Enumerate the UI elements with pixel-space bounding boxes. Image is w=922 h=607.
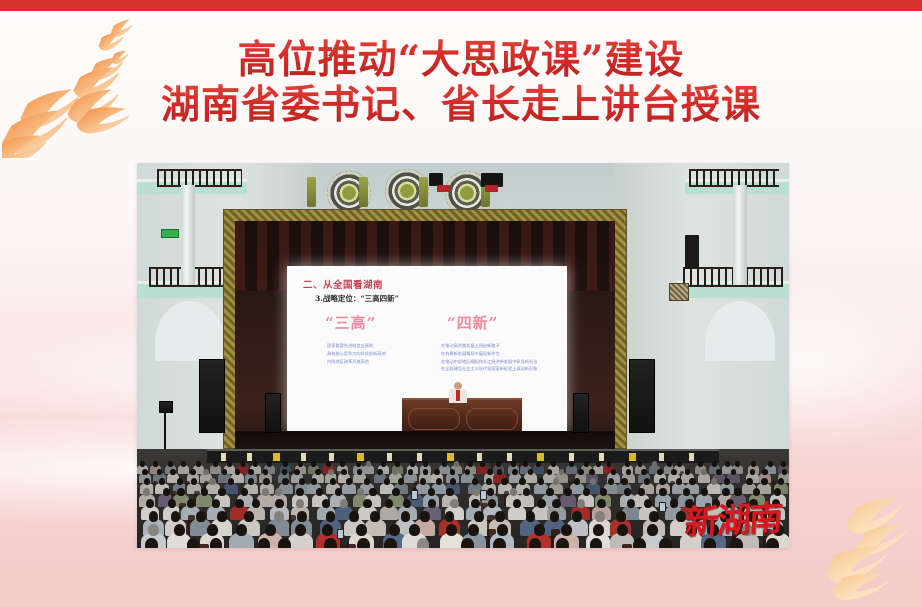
audience-member-head [174,524,185,536]
news-photo: 二、从全国看湖南 3.战略定位：“三高四新” “三高” “四新” 国家重要先进制… [137,163,789,548]
audience-member-head [296,488,303,496]
audience-member-head [724,478,730,485]
audience-member-head [384,538,397,548]
audience-member-head [227,461,232,467]
audience-member-head [392,488,399,496]
audience-member-head [671,469,677,475]
rail-marker [629,453,636,461]
audience-member-head [177,488,184,496]
audience-member-head [590,478,596,485]
audience-member-head [659,538,672,548]
audience-member-head [652,461,657,467]
audience-member-head [324,538,337,548]
audience-member-head [168,461,173,467]
audience-member-head [461,538,474,548]
audience-member-head [725,461,730,467]
audience-member-head [486,478,492,485]
audience-member-head [420,478,426,485]
audience-member-head [196,511,206,522]
audience-member-head [248,478,254,485]
stage-medallion-bar-2 [419,177,428,207]
audience-member-head [157,469,163,475]
audience-member-head [572,511,582,522]
wall-grille-right [669,283,689,301]
tripod-leg [164,411,166,451]
audience-member-head [712,461,717,467]
podium-red-cloth-left [437,185,450,192]
audience-member-head [621,478,627,485]
raised-phone [659,502,666,512]
audience-member-head [296,499,304,508]
poster-canvas: 高位推动“大思政课”建设 湖南省委书记、省长走上讲台授课 [0,0,922,607]
rail-marker [329,453,334,461]
audience-member-head [297,511,307,522]
audience-member-head [357,488,364,496]
audience-member-head [340,461,345,467]
audience-member-head [209,478,215,485]
audience-member-head [536,461,541,467]
rail-marker [537,453,544,461]
rail-marker [387,453,392,461]
audience-member-head [163,488,170,496]
slide-bullet: 在推动高质量发展上闯出新路子 [435,342,537,350]
audience-member-head [393,469,399,475]
column-left [181,185,195,285]
lecturer-tie [456,390,460,401]
audience-member-head [322,524,333,536]
audience-member-head [778,478,784,485]
audience-member-head [328,469,334,475]
raised-phone [480,490,487,500]
audience-member-head [263,478,269,485]
rail-marker [417,453,422,461]
audience-member-head [369,488,376,496]
audience-member-head [781,461,786,467]
audience-member-head [283,461,288,467]
audience-member-head [641,469,647,475]
audience-member-head [751,461,756,467]
audience-member-head [282,469,288,475]
audience-member-head [316,488,323,496]
audience-member-head [595,511,605,522]
audience-member-head [689,478,695,485]
audience-member-head [144,478,150,485]
headline-line-1: 高位推动“大思政课”建设 [0,38,922,83]
audience-member-head [617,524,628,536]
stage-medallion-bar-0 [307,177,316,207]
audience-member-head [446,488,453,496]
audience-member-head [445,511,455,522]
page-title: 高位推动“大思政课”建设 湖南省委书记、省长走上讲台授课 [0,38,922,128]
slide-heading-left: “三高” [325,312,376,333]
audience-member-head [782,469,788,475]
rail-marker [447,453,454,461]
audience-member-head [526,511,536,522]
audience-member-head [187,499,195,508]
audience-member-head [190,469,196,475]
audience-member-head [750,469,756,475]
audience-member-head [670,499,678,508]
raised-phone [337,529,344,539]
audience-member-head [244,511,254,522]
audience-member-head [768,461,773,467]
audience-member-head [495,511,505,522]
audience-member-head [552,499,560,508]
audience-member-head [511,461,516,467]
audience-member-head [341,469,347,475]
audience-member-head [201,488,208,496]
rail-marker [357,453,364,461]
audience-member-head [569,461,574,467]
audience-member-head [553,478,559,485]
audience-member-head [556,538,569,548]
audience-member-head [294,469,300,475]
audience-member-head [450,499,458,508]
watermark: 新湖南 [684,491,783,545]
slide-bullets-left: 国家重要先进制造业高地 具有核心竞争力的科技创新高地 内陆地区改革开放高地 [321,342,386,365]
audience-member-head [428,499,436,508]
audience-member-head [735,461,740,467]
audience-member-head [349,511,359,522]
audience-member-head [550,511,560,522]
audience-member-head [248,469,254,475]
audience-member-head [577,499,585,508]
auditorium-chair [198,544,208,548]
audience-member-head [501,478,507,485]
audience-member-head [480,461,485,467]
monitor-speaker-left [265,393,281,433]
background-wash-bottom [0,540,922,607]
audience-member-head [357,469,363,475]
rail-marker [507,453,512,461]
audience-member-head [381,461,386,467]
audience-member-head [275,488,282,496]
audience-member-head [659,488,666,496]
pa-speaker-right [629,359,655,433]
audience-member-head [326,511,336,522]
audience-member-head [384,478,390,485]
audience-member-head [676,478,682,485]
audience-member-head [295,524,306,536]
audience-member-head [149,511,159,522]
audience-member-head [168,499,176,508]
audience-member-head [523,461,528,467]
audience-member-head [275,499,283,508]
audience-member-head [420,511,430,522]
audience-member-head [207,524,218,536]
audience-member-head [377,469,383,475]
headline-line-2: 湖南省委书记、省长走上讲台授课 [0,83,922,128]
audience-member-head [210,538,223,548]
rail-marker [689,453,694,461]
audience-member-head [410,461,415,467]
audience-member-head [258,538,271,548]
monitor-speaker-right [573,393,589,433]
slide-bullet: 国家重要先进制造业高地 [321,342,386,350]
slide-bullet: 在推动中部地区崛起和长江经济带发展中彰显新担当 [435,358,537,366]
audience-member-head [146,499,154,508]
rail-marker [273,453,280,461]
audience-member-head [616,511,626,522]
audience-member-head [267,461,272,467]
audience-member-head [487,488,494,496]
audience-member-head [417,538,430,548]
audience-member-head [364,478,370,485]
audience-member-head [253,461,258,467]
audience-member-head [389,524,400,536]
slide-title: 二、从全国看湖南 [303,277,383,291]
audience-member-head [633,538,646,548]
stage-medallion-bar-1 [359,177,368,207]
audience-member-head [196,461,201,467]
audience-member-head [551,461,556,467]
stage-apron [235,431,615,449]
audience-member-head [711,478,717,485]
audience-member-head [385,499,393,508]
podium-red-cloth-right [485,185,498,192]
audience-member-head [153,461,158,467]
slide-bullets-right: 在推动高质量发展上闯出新路子 在构建新发展格局中展现新作为 在推动中部地区崛起和… [435,342,537,373]
rail-marker [659,453,664,461]
audience-member-head [322,499,330,508]
lecturer [449,382,467,402]
audience-member-head [357,538,370,548]
audience-member-head [519,478,525,485]
raised-phone [411,490,418,500]
audience-member-head [423,461,428,467]
audience-member-head [667,461,672,467]
audience-member-head [298,461,303,467]
audience-member-head [547,469,553,475]
audience-member-head [446,524,457,536]
audience-member-head [590,538,603,548]
audience-member-head [181,461,186,467]
audience-member-head [145,538,158,548]
audience-member-head [496,461,501,467]
auditorium-chair [622,544,632,548]
audience-member-head [546,488,553,496]
audience-member-head [600,488,607,496]
audience-member-head [326,461,331,467]
audience-member-head [534,524,545,536]
slide-bullet: 在构建新发展格局中展现新作为 [435,350,537,358]
audience-member-head [213,461,218,467]
audience-member-head [762,469,768,475]
audience-member-head [311,478,317,485]
top-red-bar [0,0,922,11]
balcony-rail-upper-left [157,169,242,187]
audience-member-head [401,511,411,522]
audience-member-head [611,469,617,475]
audience-member-head [408,469,414,475]
audience-member-head [626,469,632,475]
audience-member-head [442,461,447,467]
audience-member-head [716,469,722,475]
audience-member-head [596,461,601,467]
audience-member-head [657,469,663,475]
audience-member-head [638,461,643,467]
rail-marker [301,453,306,461]
audience-member-head [454,461,459,467]
audience-member-head [235,499,243,508]
slide-bullet: 具有核心竞争力的科技创新高地 [321,350,386,358]
audience-member-head [363,499,371,508]
audience-member-head [236,524,247,536]
audience-member-head [428,488,435,496]
rail-marker [221,453,226,461]
audience-member-head [142,469,148,475]
audience-member-head [450,478,456,485]
audience-member-head [252,499,260,508]
audience-member-head [564,488,571,496]
audience-member-head [649,511,659,522]
audience-member-head [647,524,658,536]
audience-member-head [171,511,181,522]
audience-member-head [395,461,400,467]
audience-member-head [370,511,380,522]
audience-member-head [409,524,420,536]
audience-member-head [625,461,630,467]
audience-member-head [523,488,530,496]
audience-member-head [607,461,612,467]
rail-marker [599,453,604,461]
audience-member-head [589,469,595,475]
audience-member-head [497,524,508,536]
video-camera [159,401,173,413]
audience-member-head [335,488,342,496]
rail-marker [477,453,482,461]
exit-sign [161,229,179,238]
rail-marker [247,453,252,461]
audience-member-head [265,524,276,536]
audience-member-head [698,461,703,467]
audience-member-head [510,488,517,496]
audience-member-head [578,469,584,475]
audience-member-head [241,488,248,496]
column-right [733,185,747,285]
audience-member-head [187,538,200,548]
audience-member-head [583,488,590,496]
auditorium-chair [346,544,356,548]
audience-member-head [159,478,165,485]
audience-member-head [638,488,645,496]
audience-member-head [597,499,605,508]
audience-member-head [191,478,197,485]
audience-member-head [262,488,269,496]
audience-member-head [529,538,542,548]
audience-member-head [278,538,291,548]
wall-speaker-right [685,235,699,269]
audience-member-head [593,524,604,536]
audience-member-head [474,511,484,522]
audience-member-head [644,478,650,485]
slide-subtitle: 3.战略定位：“三高四新” [315,293,399,304]
audience-member-head [218,488,225,496]
audience-member-head [241,461,246,467]
audience-member-head [746,478,752,485]
audience-member-head [274,511,284,522]
audience-member-head [538,478,544,485]
audience-member-head [177,478,183,485]
audience-member-head [434,469,440,475]
audience-member-head [282,478,288,485]
audience-member-head [701,469,707,475]
audience-member-head [537,499,545,508]
audience-member-head [212,499,220,508]
audience-member-head [228,478,234,485]
audience-member-head [487,469,493,475]
audience-member-head [217,511,227,522]
rail-marker [569,453,574,461]
audience-member-head [512,469,518,475]
audience-member-head [366,461,371,467]
audience-member-head [561,524,572,536]
audience-member-head [513,499,521,508]
audience-member-head [584,461,589,467]
audience-member-head [677,461,682,467]
audience-member-head [468,524,479,536]
audience-member-head [203,469,209,475]
audience-member-head [140,461,145,467]
slide-bullet: 内陆地区改革开放高地 [321,358,386,366]
audience-member-head [311,461,316,467]
podium-desk [402,398,522,434]
slide-heading-right: “四新” [447,312,498,333]
podium-panel-right [466,408,518,430]
audience-member-head [468,461,473,467]
pa-speaker-left [199,359,225,433]
audience-member-head [659,478,665,485]
audience-member-head [761,478,767,485]
audience-member-head [346,478,352,485]
podium-panel-left [408,408,460,430]
audience-member-head [170,469,176,475]
audience-member-head [471,499,479,508]
birds-bottom-right-icon [808,498,920,606]
audience-member-head [627,499,635,508]
audience-member-head [644,499,652,508]
audience-member-head [356,461,361,467]
audience-member-head [436,478,442,485]
audience-member-head [493,538,506,548]
slide-bullet: 在全面建设社会主义现代化国家新征程上展现新形象 [435,365,537,373]
audience-member-head [315,469,321,475]
audience-member-head [148,524,159,536]
audience-member-head [356,524,367,536]
